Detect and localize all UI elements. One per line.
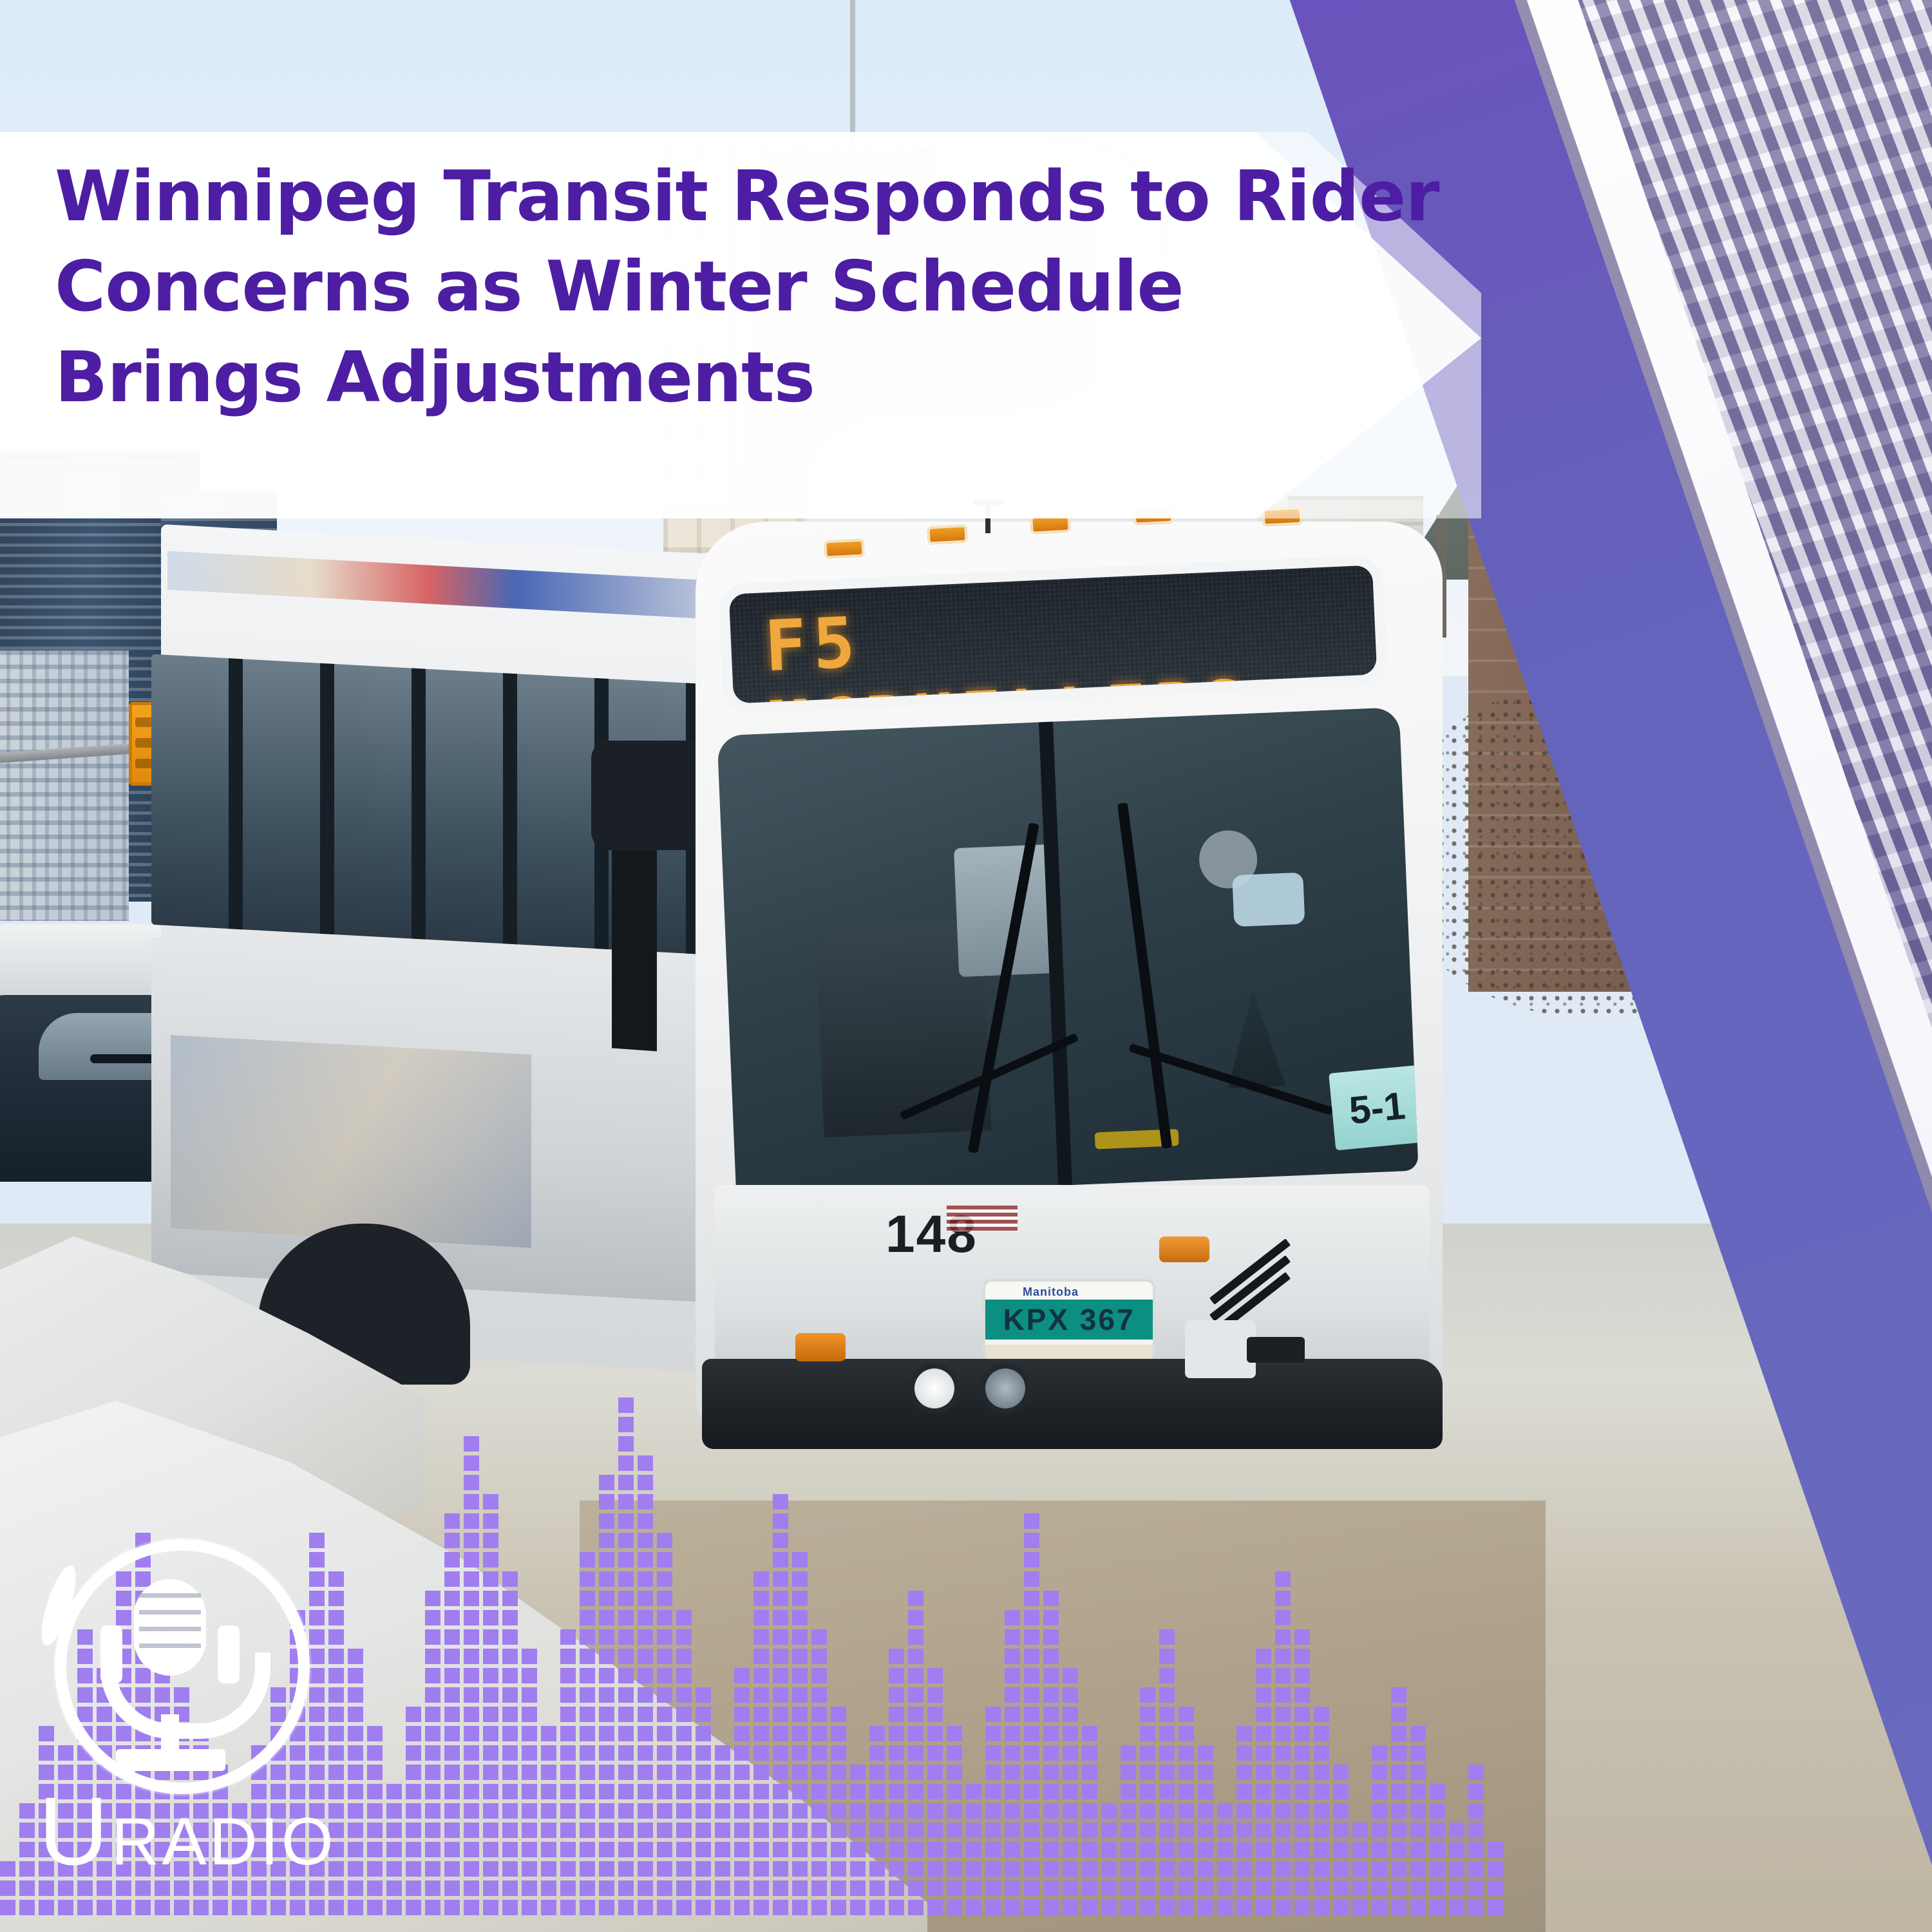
equalizer-cell bbox=[1005, 1668, 1020, 1683]
equalizer-cell bbox=[638, 1455, 653, 1471]
equalizer-cell bbox=[444, 1668, 460, 1683]
equalizer-cell bbox=[1236, 1726, 1252, 1741]
equalizer-cell bbox=[1372, 1745, 1387, 1761]
equalizer-cell bbox=[483, 1842, 498, 1857]
equalizer-cell bbox=[638, 1765, 653, 1780]
equalizer-cell bbox=[483, 1610, 498, 1625]
equalizer-cell bbox=[1352, 1823, 1368, 1838]
equalizer-cell bbox=[1140, 1745, 1155, 1761]
equalizer-cell bbox=[425, 1823, 440, 1838]
equalizer-cell bbox=[676, 1861, 692, 1877]
equalizer-cell bbox=[850, 1823, 866, 1838]
equalizer-cell bbox=[1256, 1668, 1271, 1683]
equalizer-cell bbox=[560, 1629, 576, 1645]
page-title: Winnipeg Transit Responds to Rider Conce… bbox=[55, 152, 1459, 423]
equalizer-cell bbox=[1063, 1900, 1078, 1915]
equalizer-cell bbox=[1159, 1726, 1175, 1741]
equalizer-cell bbox=[1372, 1784, 1387, 1799]
equalizer-cell bbox=[1391, 1784, 1406, 1799]
equalizer-cell bbox=[328, 1900, 344, 1915]
equalizer-cell bbox=[753, 1842, 769, 1857]
brand-initial: U bbox=[39, 1777, 111, 1885]
equalizer-cell bbox=[1101, 1842, 1117, 1857]
equalizer-cell bbox=[638, 1861, 653, 1877]
equalizer-cell bbox=[406, 1803, 421, 1819]
equalizer-cell bbox=[1391, 1745, 1406, 1761]
equalizer-cell bbox=[1121, 1784, 1136, 1799]
equalizer-cell bbox=[1179, 1784, 1194, 1799]
equalizer-cell bbox=[1043, 1745, 1059, 1761]
equalizer-cell bbox=[1043, 1784, 1059, 1799]
equalizer-cell bbox=[1391, 1880, 1406, 1896]
equalizer-cell bbox=[1101, 1900, 1117, 1915]
equalizer-cell bbox=[985, 1900, 1001, 1915]
equalizer-cell bbox=[464, 1629, 479, 1645]
equalizer-cell bbox=[1082, 1784, 1097, 1799]
equalizer-cell bbox=[1082, 1803, 1097, 1819]
equalizer-cell bbox=[850, 1842, 866, 1857]
equalizer-cell bbox=[1275, 1707, 1291, 1722]
equalizer-cell bbox=[889, 1668, 904, 1683]
equalizer-cell bbox=[638, 1552, 653, 1567]
equalizer-cell bbox=[1159, 1649, 1175, 1664]
equalizer-cell bbox=[792, 1726, 808, 1741]
equalizer-cell bbox=[1294, 1707, 1310, 1722]
equalizer-cell bbox=[638, 1494, 653, 1510]
equalizer-cell bbox=[1159, 1668, 1175, 1683]
equalizer-cell bbox=[831, 1745, 846, 1761]
equalizer-cell bbox=[444, 1880, 460, 1896]
equalizer-cell bbox=[522, 1707, 537, 1722]
equalizer-cell bbox=[947, 1726, 962, 1741]
equalizer-cell bbox=[580, 1571, 595, 1587]
equalizer-cell bbox=[734, 1842, 750, 1857]
equalizer-cell bbox=[1140, 1803, 1155, 1819]
equalizer-cell bbox=[1333, 1803, 1349, 1819]
equalizer-cell bbox=[444, 1591, 460, 1606]
equalizer-cell bbox=[657, 1571, 672, 1587]
equalizer-cell bbox=[1488, 1900, 1503, 1915]
equalizer-cell bbox=[1236, 1861, 1252, 1877]
equalizer-cell bbox=[1198, 1765, 1213, 1780]
equalizer-cell bbox=[599, 1726, 614, 1741]
equalizer-cell bbox=[541, 1823, 556, 1838]
equalizer-cell bbox=[638, 1880, 653, 1896]
equalizer-cell bbox=[850, 1861, 866, 1877]
equalizer-cell bbox=[869, 1842, 885, 1857]
equalizer-cell bbox=[1043, 1823, 1059, 1838]
equalizer-cell bbox=[715, 1823, 730, 1838]
equalizer-cell bbox=[811, 1707, 827, 1722]
equalizer-cell bbox=[270, 1900, 286, 1915]
equalizer-cell bbox=[831, 1726, 846, 1741]
equalizer-cell bbox=[1043, 1629, 1059, 1645]
equalizer-cell bbox=[1275, 1591, 1291, 1606]
equalizer-cell bbox=[580, 1880, 595, 1896]
equalizer-cell bbox=[580, 1823, 595, 1838]
equalizer-cell bbox=[1372, 1823, 1387, 1838]
equalizer-cell bbox=[1179, 1900, 1194, 1915]
equalizer-cell bbox=[1391, 1707, 1406, 1722]
equalizer-cell bbox=[580, 1552, 595, 1567]
equalizer-cell bbox=[908, 1707, 923, 1722]
equalizer-cell bbox=[522, 1745, 537, 1761]
equalizer-cell bbox=[1024, 1610, 1039, 1625]
equalizer-cell bbox=[773, 1687, 788, 1703]
equalizer-cell bbox=[483, 1571, 498, 1587]
equalizer-cell bbox=[1024, 1552, 1039, 1567]
equalizer-cell bbox=[1043, 1765, 1059, 1780]
equalizer-cell bbox=[638, 1610, 653, 1625]
equalizer-cell bbox=[1082, 1880, 1097, 1896]
equalizer-cell bbox=[831, 1823, 846, 1838]
equalizer-cell bbox=[1024, 1842, 1039, 1857]
equalizer-cell bbox=[889, 1707, 904, 1722]
equalizer-cell bbox=[657, 1784, 672, 1799]
equalizer-cell bbox=[1275, 1745, 1291, 1761]
equalizer-cell bbox=[1179, 1861, 1194, 1877]
equalizer-cell bbox=[1043, 1610, 1059, 1625]
equalizer-cell bbox=[831, 1880, 846, 1896]
equalizer-cell bbox=[213, 1900, 228, 1915]
equalizer-cell bbox=[1236, 1823, 1252, 1838]
equalizer-cell bbox=[1236, 1880, 1252, 1896]
equalizer-cell bbox=[1198, 1842, 1213, 1857]
equalizer-cell bbox=[560, 1745, 576, 1761]
equalizer-cell bbox=[425, 1610, 440, 1625]
uradio-logo: URADIO bbox=[39, 1539, 399, 1900]
equalizer-cell bbox=[1372, 1880, 1387, 1896]
equalizer-cell bbox=[580, 1861, 595, 1877]
equalizer-cell bbox=[1179, 1842, 1194, 1857]
equalizer-cell bbox=[1082, 1745, 1097, 1761]
equalizer-cell bbox=[696, 1745, 711, 1761]
equalizer-cell bbox=[502, 1823, 518, 1838]
equalizer-cell bbox=[1294, 1726, 1310, 1741]
equalizer-cell bbox=[638, 1649, 653, 1664]
equalizer-cell bbox=[464, 1591, 479, 1606]
equalizer-cell bbox=[753, 1687, 769, 1703]
equalizer-cell bbox=[1159, 1823, 1175, 1838]
equalizer-cell bbox=[908, 1591, 923, 1606]
equalizer-cell bbox=[1159, 1765, 1175, 1780]
equalizer-cell bbox=[734, 1900, 750, 1915]
equalizer-cell bbox=[425, 1842, 440, 1857]
equalizer-cell bbox=[947, 1842, 962, 1857]
equalizer-cell bbox=[773, 1571, 788, 1587]
equalizer-cell bbox=[599, 1552, 614, 1567]
equalizer-cell bbox=[869, 1861, 885, 1877]
equalizer-cell bbox=[657, 1765, 672, 1780]
equalizer-cell bbox=[464, 1455, 479, 1471]
equalizer-cell bbox=[1024, 1533, 1039, 1548]
equalizer-cell bbox=[753, 1745, 769, 1761]
equalizer-cell bbox=[676, 1726, 692, 1741]
equalizer-cell bbox=[1275, 1649, 1291, 1664]
equalizer-cell bbox=[1121, 1823, 1136, 1838]
equalizer-cell bbox=[406, 1726, 421, 1741]
equalizer-cell bbox=[1140, 1765, 1155, 1780]
equalizer-cell bbox=[483, 1649, 498, 1664]
equalizer-cell bbox=[77, 1900, 93, 1915]
equalizer-cell bbox=[444, 1571, 460, 1587]
brand-remainder: RADIO bbox=[111, 1804, 336, 1879]
equalizer-cell bbox=[1121, 1880, 1136, 1896]
equalizer-cell bbox=[464, 1861, 479, 1877]
equalizer-cell bbox=[676, 1842, 692, 1857]
equalizer-cell bbox=[773, 1610, 788, 1625]
equalizer-cell bbox=[811, 1803, 827, 1819]
equalizer-cell bbox=[1352, 1842, 1368, 1857]
equalizer-cell bbox=[464, 1784, 479, 1799]
equalizer-cell bbox=[502, 1784, 518, 1799]
equalizer-cell bbox=[927, 1707, 943, 1722]
equalizer-cell bbox=[618, 1880, 634, 1896]
equalizer-cell bbox=[657, 1687, 672, 1703]
equalizer-cell bbox=[1391, 1861, 1406, 1877]
equalizer-cell bbox=[464, 1533, 479, 1548]
equalizer-cell bbox=[560, 1880, 576, 1896]
equalizer-cell bbox=[1024, 1900, 1039, 1915]
equalizer-cell bbox=[753, 1649, 769, 1664]
equalizer-cell bbox=[580, 1687, 595, 1703]
equalizer-cell bbox=[850, 1784, 866, 1799]
equalizer-cell bbox=[1256, 1784, 1271, 1799]
equalizer-cell bbox=[1468, 1823, 1484, 1838]
equalizer-cell bbox=[927, 1687, 943, 1703]
equalizer-cell bbox=[1372, 1900, 1387, 1915]
equalizer-cell bbox=[1082, 1765, 1097, 1780]
equalizer-cell bbox=[618, 1455, 634, 1471]
equalizer-cell bbox=[734, 1823, 750, 1838]
equalizer-cell bbox=[444, 1533, 460, 1548]
equalizer-cell bbox=[1391, 1900, 1406, 1915]
equalizer-cell bbox=[1256, 1765, 1271, 1780]
equalizer-cell bbox=[792, 1861, 808, 1877]
equalizer-cell bbox=[1468, 1784, 1484, 1799]
equalizer-cell bbox=[483, 1861, 498, 1877]
equalizer-cell bbox=[753, 1571, 769, 1587]
equalizer-cell bbox=[638, 1687, 653, 1703]
equalizer-cell bbox=[1024, 1687, 1039, 1703]
equalizer-cell bbox=[1391, 1823, 1406, 1838]
equalizer-cell bbox=[425, 1649, 440, 1664]
equalizer-cell bbox=[580, 1591, 595, 1606]
equalizer-cell bbox=[869, 1900, 885, 1915]
equalizer-cell bbox=[444, 1649, 460, 1664]
equalizer-cell bbox=[1217, 1842, 1233, 1857]
equalizer-cell bbox=[1468, 1803, 1484, 1819]
equalizer-cell bbox=[1294, 1823, 1310, 1838]
equalizer-cell bbox=[464, 1668, 479, 1683]
equalizer-cell bbox=[502, 1649, 518, 1664]
equalizer-cell bbox=[657, 1842, 672, 1857]
equalizer-cell bbox=[676, 1610, 692, 1625]
equalizer-cell bbox=[522, 1726, 537, 1741]
equalizer-cell bbox=[1333, 1765, 1349, 1780]
equalizer-cell bbox=[618, 1765, 634, 1780]
equalizer-cell bbox=[908, 1784, 923, 1799]
equalizer-cell bbox=[599, 1745, 614, 1761]
equalizer-cell bbox=[483, 1552, 498, 1567]
equalizer-cell bbox=[444, 1629, 460, 1645]
equalizer-cell bbox=[406, 1765, 421, 1780]
equalizer-cell bbox=[1005, 1784, 1020, 1799]
equalizer-cell bbox=[309, 1900, 325, 1915]
equalizer-cell bbox=[618, 1861, 634, 1877]
equalizer-cell bbox=[1333, 1900, 1349, 1915]
equalizer-cell bbox=[1410, 1900, 1426, 1915]
marker-light-2 bbox=[927, 524, 967, 544]
equalizer-cell bbox=[425, 1765, 440, 1780]
equalizer-cell bbox=[889, 1765, 904, 1780]
equalizer-cell bbox=[773, 1842, 788, 1857]
equalizer-cell bbox=[618, 1726, 634, 1741]
equalizer-cell bbox=[1043, 1880, 1059, 1896]
equalizer-cell bbox=[522, 1900, 537, 1915]
equalizer-cell bbox=[889, 1900, 904, 1915]
equalizer-cell bbox=[947, 1861, 962, 1877]
equalizer-cell bbox=[676, 1765, 692, 1780]
equalizer-cell bbox=[19, 1823, 35, 1838]
equalizer-cell bbox=[483, 1707, 498, 1722]
equalizer-cell bbox=[580, 1707, 595, 1722]
equalizer-cell bbox=[908, 1765, 923, 1780]
brand-wordmark: URADIO bbox=[39, 1783, 399, 1879]
equalizer-cell bbox=[1236, 1745, 1252, 1761]
equalizer-cell bbox=[483, 1823, 498, 1838]
liability-decal bbox=[947, 1206, 1018, 1231]
equalizer-cell bbox=[580, 1610, 595, 1625]
equalizer-cell bbox=[715, 1900, 730, 1915]
equalizer-cell bbox=[1449, 1823, 1464, 1838]
equalizer-cell bbox=[792, 1803, 808, 1819]
equalizer-cell bbox=[1275, 1823, 1291, 1838]
equalizer-cell bbox=[1043, 1842, 1059, 1857]
equalizer-cell bbox=[1063, 1861, 1078, 1877]
equalizer-cell bbox=[966, 1900, 981, 1915]
equalizer-cell bbox=[657, 1823, 672, 1838]
equalizer-cell bbox=[1198, 1900, 1213, 1915]
equalizer-cell bbox=[1179, 1803, 1194, 1819]
equalizer-cell bbox=[1352, 1880, 1368, 1896]
equalizer-cell bbox=[522, 1784, 537, 1799]
equalizer-cell bbox=[1140, 1687, 1155, 1703]
equalizer-cell bbox=[464, 1436, 479, 1452]
equalizer-cell bbox=[753, 1861, 769, 1877]
equalizer-cell bbox=[560, 1784, 576, 1799]
equalizer-cell bbox=[618, 1900, 634, 1915]
equalizer-cell bbox=[927, 1803, 943, 1819]
equalizer-cell bbox=[908, 1880, 923, 1896]
equalizer-cell bbox=[1294, 1765, 1310, 1780]
equalizer-cell bbox=[1005, 1610, 1020, 1625]
equalizer-cell bbox=[947, 1784, 962, 1799]
equalizer-cell bbox=[1275, 1861, 1291, 1877]
equalizer-cell bbox=[406, 1900, 421, 1915]
equalizer-cell bbox=[773, 1823, 788, 1838]
equalizer-cell bbox=[1314, 1765, 1329, 1780]
equalizer-cell bbox=[1005, 1745, 1020, 1761]
equalizer-cell bbox=[792, 1823, 808, 1838]
equalizer-cell bbox=[753, 1629, 769, 1645]
equalizer-cell bbox=[599, 1571, 614, 1587]
equalizer-cell bbox=[985, 1823, 1001, 1838]
equalizer-cell bbox=[1140, 1784, 1155, 1799]
equalizer-cell bbox=[657, 1861, 672, 1877]
equalizer-cell bbox=[618, 1803, 634, 1819]
equalizer-cell bbox=[1333, 1861, 1349, 1877]
equalizer-cell bbox=[1082, 1842, 1097, 1857]
equalizer-cell bbox=[19, 1880, 35, 1896]
equalizer-cell bbox=[696, 1900, 711, 1915]
equalizer-cell bbox=[444, 1726, 460, 1741]
equalizer-cell bbox=[1198, 1745, 1213, 1761]
equalizer-cell bbox=[502, 1745, 518, 1761]
equalizer-cell bbox=[1140, 1842, 1155, 1857]
equalizer-cell bbox=[483, 1687, 498, 1703]
equalizer-cell bbox=[889, 1687, 904, 1703]
equalizer-cell bbox=[541, 1900, 556, 1915]
equalizer-cell bbox=[1314, 1842, 1329, 1857]
equalizer-cell bbox=[676, 1649, 692, 1664]
equalizer-cell bbox=[1063, 1745, 1078, 1761]
equalizer-cell bbox=[1024, 1823, 1039, 1838]
equalizer-cell bbox=[1256, 1707, 1271, 1722]
equalizer-cell bbox=[1236, 1900, 1252, 1915]
equalizer-cell bbox=[773, 1494, 788, 1510]
equalizer-cell bbox=[638, 1513, 653, 1529]
equalizer-cell bbox=[1430, 1900, 1445, 1915]
equalizer-cell bbox=[502, 1880, 518, 1896]
equalizer-cell bbox=[464, 1610, 479, 1625]
equalizer-cell bbox=[927, 1842, 943, 1857]
equalizer-cell bbox=[1430, 1842, 1445, 1857]
equalizer-cell bbox=[406, 1745, 421, 1761]
equalizer-cell bbox=[599, 1629, 614, 1645]
equalizer-cell bbox=[792, 1745, 808, 1761]
equalizer-cell bbox=[425, 1629, 440, 1645]
equalizer-cell bbox=[1043, 1649, 1059, 1664]
equalizer-cell bbox=[483, 1668, 498, 1683]
equalizer-cell bbox=[831, 1707, 846, 1722]
equalizer-cell bbox=[1410, 1880, 1426, 1896]
equalizer-cell bbox=[618, 1707, 634, 1722]
equalizer-cell bbox=[19, 1803, 35, 1819]
equalizer-cell bbox=[1005, 1687, 1020, 1703]
equalizer-cell bbox=[927, 1726, 943, 1741]
equalizer-cell bbox=[889, 1861, 904, 1877]
equalizer-cell bbox=[444, 1803, 460, 1819]
equalizer-cell bbox=[0, 1861, 15, 1877]
equalizer-cell bbox=[618, 1823, 634, 1838]
equalizer-cell bbox=[386, 1900, 402, 1915]
equalizer-cell bbox=[1005, 1861, 1020, 1877]
equalizer-cell bbox=[1179, 1726, 1194, 1741]
equalizer-cell bbox=[869, 1823, 885, 1838]
equalizer-cell bbox=[1024, 1707, 1039, 1722]
equalizer-cell bbox=[618, 1842, 634, 1857]
equalizer-cell bbox=[676, 1803, 692, 1819]
equalizer-cell bbox=[1198, 1880, 1213, 1896]
equalizer-cell bbox=[638, 1591, 653, 1606]
equalizer-cell bbox=[811, 1765, 827, 1780]
equalizer-cell bbox=[522, 1668, 537, 1683]
equalizer-cell bbox=[889, 1842, 904, 1857]
equalizer-cell bbox=[580, 1649, 595, 1664]
equalizer-cell bbox=[1121, 1900, 1136, 1915]
equalizer-cell bbox=[985, 1745, 1001, 1761]
